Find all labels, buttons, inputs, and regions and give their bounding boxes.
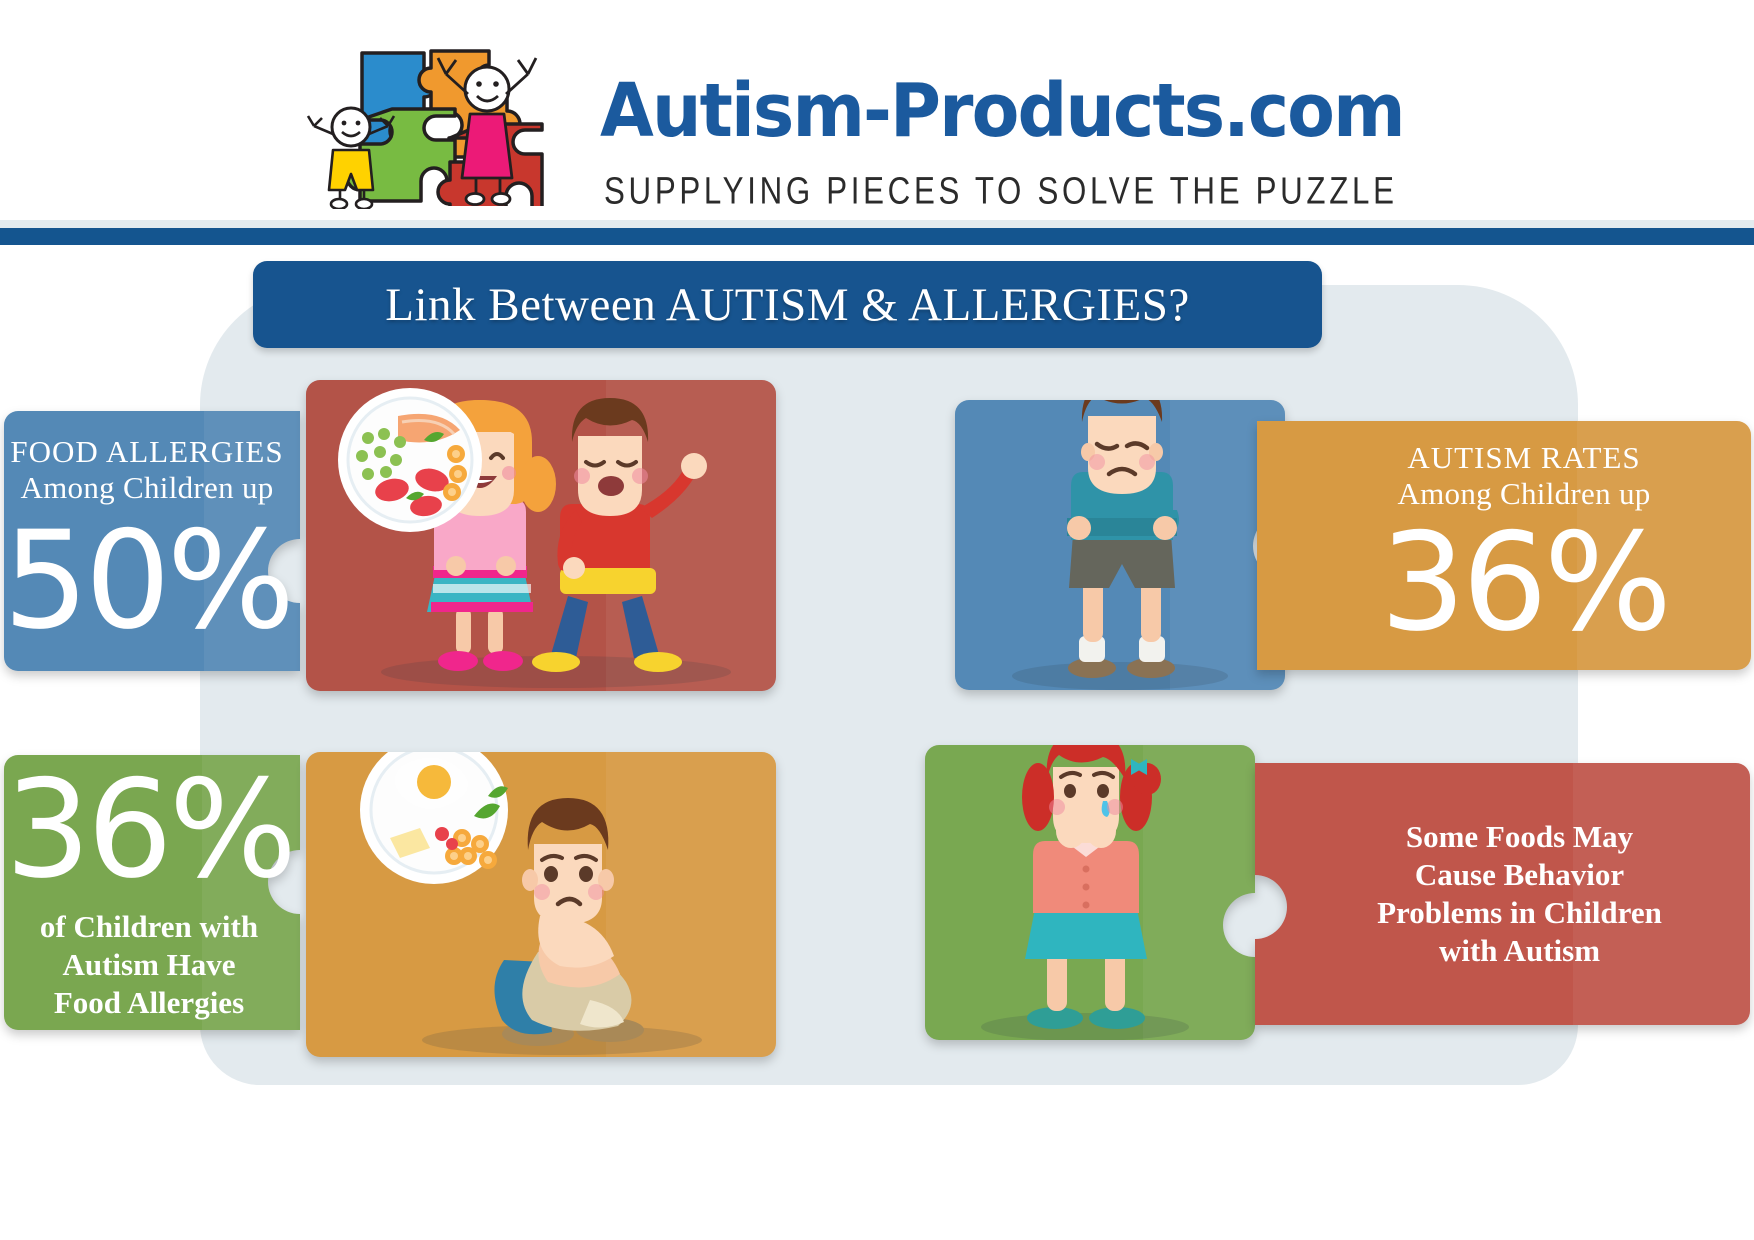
panel-caption-line-3: Food Allergies: [54, 984, 244, 1022]
puzzle-piece-red-shape: [306, 380, 776, 691]
stick-figure-boy-icon: [306, 104, 396, 209]
panel-behavior-problems-text: Some Foods May Cause Behavior Problems i…: [1255, 763, 1750, 1025]
panel-stat: 36%: [1380, 517, 1668, 649]
puzzle-piece-orange-image-shape: [306, 752, 776, 1057]
site-logo[interactable]: Autism-Products.com SUPPLYING PIECES TO …: [300, 24, 1300, 204]
panel-behavior-problems-image: [925, 745, 1255, 1040]
panel-stat: 36%: [5, 764, 293, 896]
panel-autism-rates-text: AUTISM RATES Among Children up 36%: [1257, 421, 1751, 670]
panel-food-allergies-text: FOOD ALLERGIES Among Children up 50%: [4, 411, 314, 671]
brand-tagline: SUPPLYING PIECES TO SOLVE THE PUZZLE: [604, 170, 1398, 214]
panel-autism-food-allergies-image: [306, 752, 776, 1057]
stick-figure-girl-icon: [432, 36, 542, 206]
panel-caption-line-2: Autism Have: [62, 946, 235, 984]
puzzle-piece-green-image-shape: [925, 745, 1255, 1040]
infographic-title-banner: Link Between AUTISM & ALLERGIES?: [253, 261, 1322, 348]
panel-autism-rates-image: [955, 400, 1285, 690]
panel-caption-line-1: of Children with: [40, 908, 258, 946]
page-header: Autism-Products.com SUPPLYING PIECES TO …: [0, 0, 1754, 220]
panel-subheading: Among Children up: [20, 471, 273, 505]
logo-text-block: Autism-Products.com SUPPLYING PIECES TO …: [600, 64, 1300, 204]
panel-caption-line-4: with Autism: [1439, 932, 1600, 970]
panel-caption-line-2: Cause Behavior: [1415, 856, 1624, 894]
header-divider-blue: [0, 228, 1754, 245]
panel-stat: 50%: [3, 515, 291, 647]
panel-heading: FOOD ALLERGIES: [10, 435, 283, 469]
panel-caption-line-1: Some Foods May: [1406, 818, 1633, 856]
header-divider-light: [0, 220, 1754, 228]
brand-name: Autism-Products.com: [600, 74, 1404, 148]
puzzle-logo-icon: [300, 26, 590, 206]
panel-autism-food-allergies-text: 36% of Children with Autism Have Food Al…: [4, 755, 314, 1030]
panel-food-allergies-image: [306, 380, 776, 691]
puzzle-piece-blue-image-shape: [955, 400, 1285, 690]
page-title: Link Between AUTISM & ALLERGIES?: [385, 278, 1189, 332]
panel-heading: AUTISM RATES: [1407, 441, 1640, 475]
panel-caption-line-3: Problems in Children: [1377, 894, 1662, 932]
